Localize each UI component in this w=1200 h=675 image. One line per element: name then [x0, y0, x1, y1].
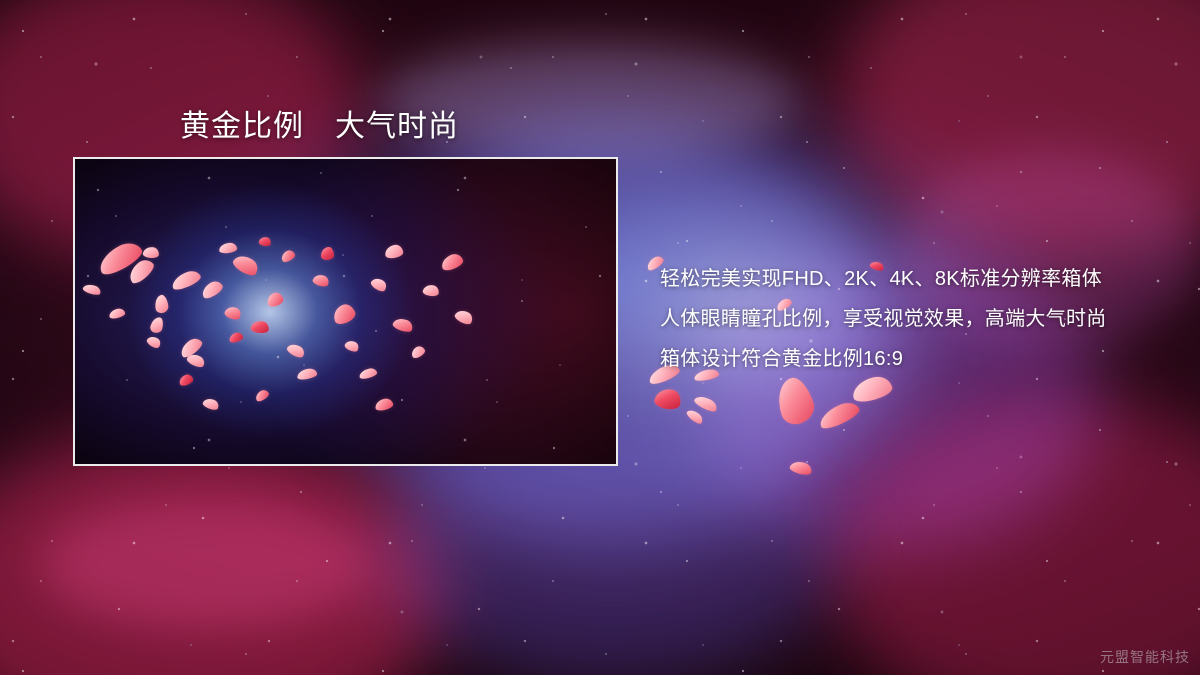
inset-image-content [75, 159, 616, 464]
body-line-2: 人体眼睛瞳孔比例，享受视觉效果，高端大气时尚 [660, 299, 1150, 339]
inset-image-frame[interactable] [73, 157, 618, 466]
petal [142, 246, 159, 259]
body-line-1: 轻松完美实现FHD、2K、4K、8K标准分辨率箱体 [660, 259, 1150, 299]
body-text-block: 轻松完美实现FHD、2K、4K、8K标准分辨率箱体 人体眼睛瞳孔比例，享受视觉效… [660, 259, 1150, 379]
slide-canvas: 黄金比例 大气时尚 轻松完美实现FHD、2K、4K、8K标准分辨率箱体 人体眼睛… [0, 0, 1200, 675]
body-line-3: 箱体设计符合黄金比例16:9 [660, 339, 1150, 379]
page-title: 黄金比例 大气时尚 [180, 101, 459, 145]
petal [321, 247, 334, 260]
watermark-label: 元盟智能科技 [1100, 647, 1190, 667]
